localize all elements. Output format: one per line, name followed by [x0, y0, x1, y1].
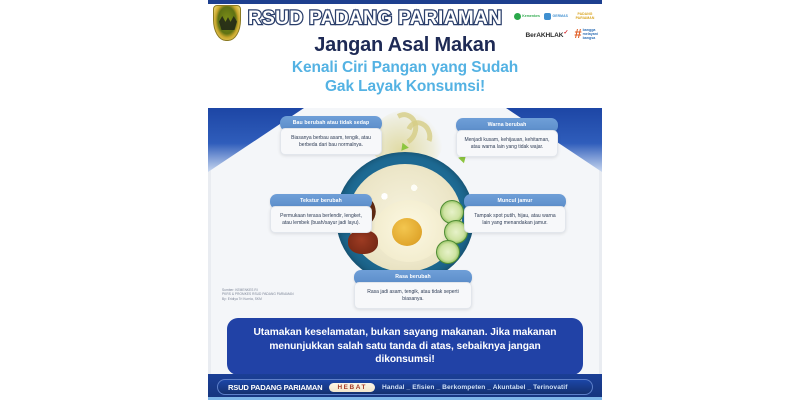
info-card-bau: Bau berubah atau tidak sedap Biasanya be…	[280, 116, 382, 155]
info-card-jamur: Muncul jamur Tampak spot putih, hijau, a…	[464, 194, 566, 233]
chili-sambal-shape	[348, 230, 378, 254]
headline-secondary-line2: Gak Layak Konsumsi!	[208, 77, 602, 96]
kemenkes-mark-icon	[514, 13, 521, 20]
egg-yolk-shape	[392, 218, 422, 246]
kemenkes-logo: Kemenkes	[514, 11, 540, 22]
footer-brand: RSUD PADANG PARIAMAN	[228, 383, 322, 392]
page-title: RSUD PADANG PARIAMAN	[248, 6, 498, 32]
screenshot-canvas: RSUD PADANG PARIAMAN Kemenkes GERMAS PAD…	[0, 0, 800, 400]
info-card-tekstur: Tekstur berubah Permukaan terasa berlend…	[270, 194, 372, 233]
info-card-warna: Warna berubah Menjadi kusam, kehijauan, …	[456, 118, 558, 157]
info-card-rasa: Rasa berubah Rasa jadi asam, tengik, ata…	[354, 270, 472, 309]
info-card-body: Biasanya berbau asam, tengik, atau berbe…	[280, 128, 382, 155]
info-card-body: Menjadi kusam, kehijauan, kehitaman, ata…	[456, 130, 558, 157]
footer-values: Handal _ Efisien _ Berkompeten _ Akuntab…	[382, 384, 568, 391]
germas-logo: GERMAS	[544, 11, 568, 22]
source-credit: Sumber: KEMENKES RI PKRS & PROMKES RSUD …	[222, 288, 294, 301]
padang-pariaman-logo: PADANG PARIAMAN	[572, 11, 598, 22]
credit-line-3: By: Eridiya Tri Kurnia, SKM	[222, 297, 294, 301]
infographic-poster: RSUD PADANG PARIAMAN Kemenkes GERMAS PAD…	[208, 0, 602, 400]
germas-mark-icon	[544, 13, 551, 20]
headline-primary: Jangan Asal Makan	[208, 34, 602, 57]
footer-pill: RSUD PADANG PARIAMAN HEBAT Handal _ Efis…	[217, 379, 593, 395]
headline-secondary: Kenali Ciri Pangan yang Sudah Gak Layak …	[208, 58, 602, 96]
credit-line-2: PKRS & PROMKES RSUD PADANG PARIAMAN	[222, 292, 294, 296]
info-card-body: Tampak spot putih, hijau, atau warna lai…	[464, 206, 566, 233]
header-top-rule	[208, 0, 602, 4]
info-card-body: Permukaan terasa berlendir, lengket, ata…	[270, 206, 372, 233]
footer-badge-hebat: HEBAT	[329, 383, 375, 392]
cta-banner: Utamakan keselamatan, bukan sayang makan…	[227, 318, 583, 375]
poster-header: RSUD PADANG PARIAMAN Kemenkes GERMAS PAD…	[208, 0, 602, 108]
headline-secondary-line1: Kenali Ciri Pangan yang Sudah	[208, 58, 602, 77]
cucumber-slice-shape	[436, 240, 460, 264]
partner-logo-row-top: Kemenkes GERMAS PADANG PARIAMAN	[490, 8, 598, 24]
info-card-body: Rasa jadi asam, tengik, atau tidak seper…	[354, 282, 472, 309]
